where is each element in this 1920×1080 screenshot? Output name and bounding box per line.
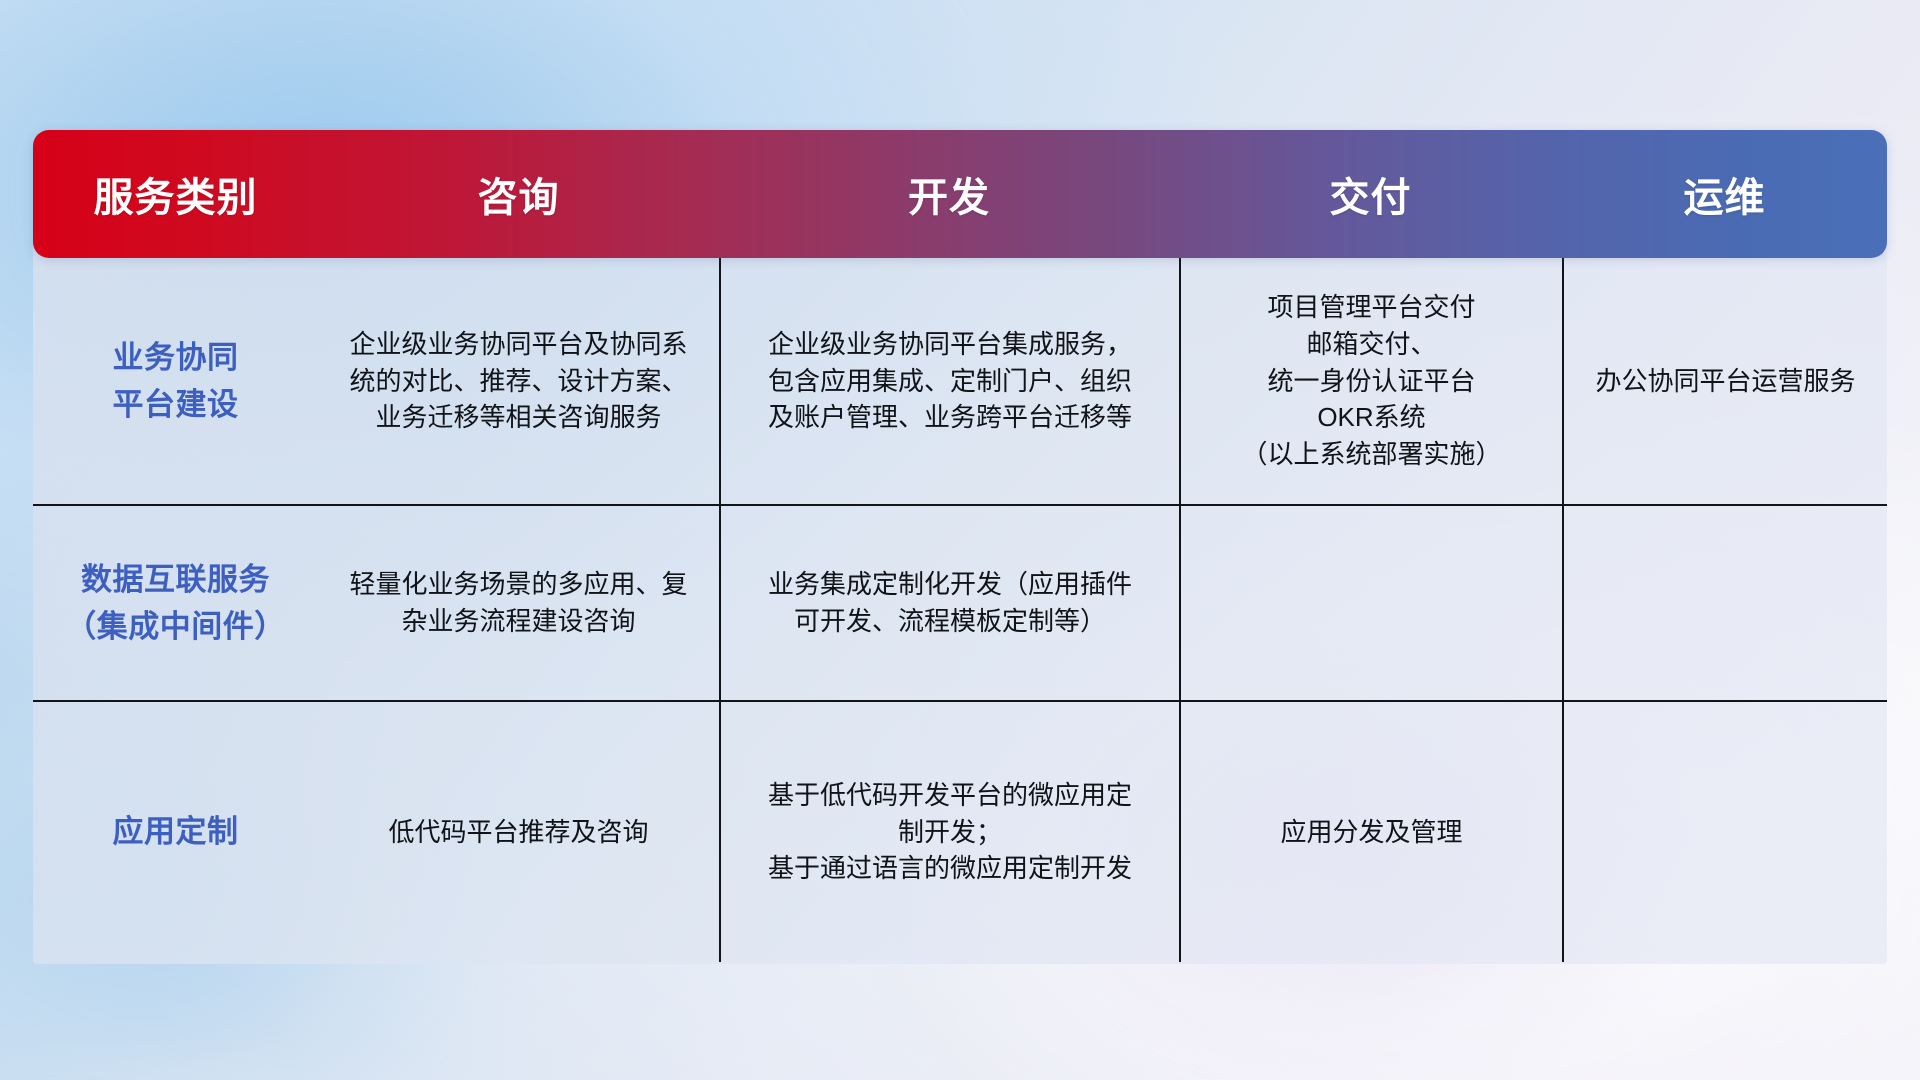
column-header-operations: 运维 <box>1562 165 1887 223</box>
cell-consulting-row2: 轻量化业务场景的多应用、复 杂业务流程建设咨询 <box>318 506 719 700</box>
cell-operations-row1: 办公协同平台运营服务 <box>1562 258 1887 504</box>
table-row: 应用定制 低代码平台推荐及咨询 基于低代码开发平台的微应用定 制开发； 基于通过… <box>33 700 1887 962</box>
cell-delivery-row2 <box>1179 506 1562 700</box>
row-label-data-interconnect: 数据互联服务 （集成中间件） <box>33 506 318 700</box>
column-header-development: 开发 <box>719 165 1179 223</box>
table-body: 业务协同 平台建设 企业级业务协同平台及协同系 统的对比、推荐、设计方案、 业务… <box>33 244 1887 964</box>
column-header-consulting: 咨询 <box>318 165 719 223</box>
service-matrix-table: 服务类别 咨询 开发 交付 运维 业务协同 平台建设 企业级业务协同平台及协同系… <box>33 130 1887 950</box>
cell-consulting-row1: 企业级业务协同平台及协同系 统的对比、推荐、设计方案、 业务迁移等相关咨询服务 <box>318 258 719 504</box>
column-header-service-category: 服务类别 <box>33 165 318 223</box>
cell-consulting-row3: 低代码平台推荐及咨询 <box>318 702 719 962</box>
table-header-row: 服务类别 咨询 开发 交付 运维 <box>33 130 1887 258</box>
cell-operations-row3 <box>1562 702 1887 962</box>
slide-canvas: 服务类别 咨询 开发 交付 运维 业务协同 平台建设 企业级业务协同平台及协同系… <box>0 0 1920 1080</box>
table-row: 数据互联服务 （集成中间件） 轻量化业务场景的多应用、复 杂业务流程建设咨询 业… <box>33 504 1887 700</box>
cell-delivery-row3: 应用分发及管理 <box>1179 702 1562 962</box>
column-header-delivery: 交付 <box>1179 165 1562 223</box>
cell-development-row1: 企业级业务协同平台集成服务， 包含应用集成、定制门户、组织 及账户管理、业务跨平… <box>719 258 1179 504</box>
table-row: 业务协同 平台建设 企业级业务协同平台及协同系 统的对比、推荐、设计方案、 业务… <box>33 258 1887 504</box>
cell-delivery-row1: 项目管理平台交付 邮箱交付、 统一身份认证平台 OKR系统 （以上系统部署实施） <box>1179 258 1562 504</box>
row-label-business-collaboration: 业务协同 平台建设 <box>33 258 318 504</box>
row-label-app-customization: 应用定制 <box>33 702 318 962</box>
cell-development-row3: 基于低代码开发平台的微应用定 制开发； 基于通过语言的微应用定制开发 <box>719 702 1179 962</box>
cell-development-row2: 业务集成定制化开发（应用插件 可开发、流程模板定制等） <box>719 506 1179 700</box>
cell-operations-row2 <box>1562 506 1887 700</box>
